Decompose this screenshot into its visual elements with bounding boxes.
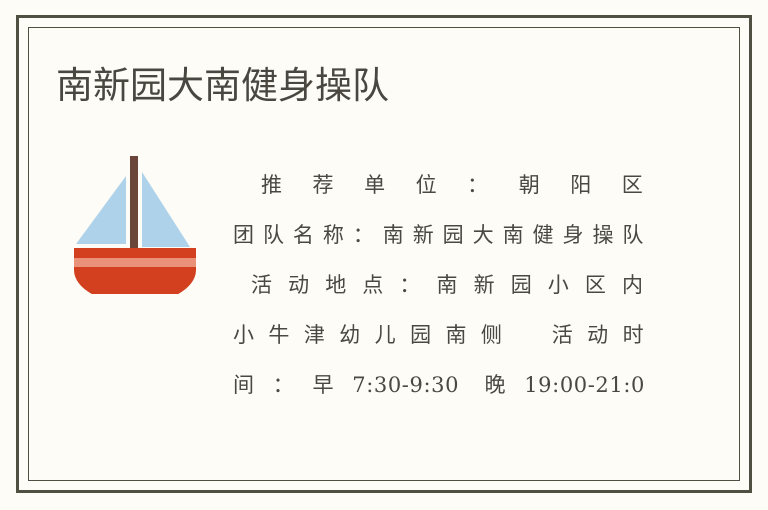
info-line-location-cont: 小牛津幼儿园南侧 活动时 [233,310,645,360]
info-line-activity-time: 间：早7:30-9:30 晚19:00-21:0 [233,360,645,410]
sailboat-icon [70,152,200,294]
page-title: 南新园大南健身操队 [56,62,389,110]
info-line-team-name: 团队名称：南新园大南健身操队 [233,210,645,260]
team-info-card: 南新园大南健身操队 推荐单位：朝阳区 团队名称：南新园大南健身操队 活动地点：南… [0,0,768,510]
team-info-text: 推荐单位：朝阳区 团队名称：南新园大南健身操队 活动地点：南新园小区内 小牛津幼… [233,160,645,410]
info-line-recommend-unit: 推荐单位：朝阳区 [233,160,645,210]
info-line-location: 活动地点：南新园小区内 [233,260,645,310]
